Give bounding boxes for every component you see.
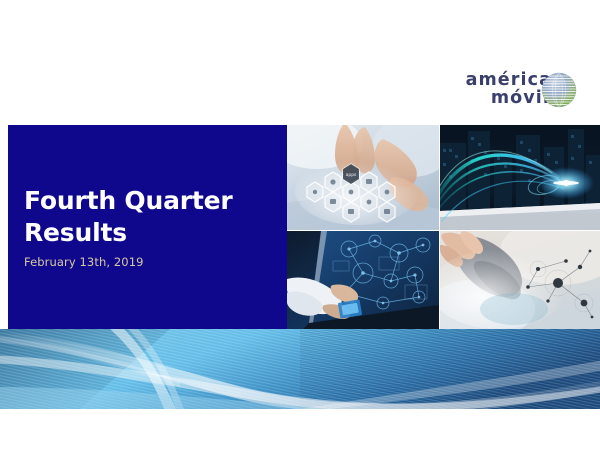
title-panel: Fourth Quarter Results February 13th, 20… (8, 125, 287, 329)
blue-wave-graphic (0, 329, 600, 409)
page-title: Fourth Quarter Results (24, 185, 274, 248)
striped-sphere-icon (541, 72, 577, 108)
footer-whitespace (0, 409, 600, 464)
hands-hexagon-interface-photo: apps (287, 125, 439, 230)
presentation-slide: américa móvil (0, 0, 600, 464)
title-block: Fourth Quarter Results February 13th, 20… (24, 185, 274, 269)
logo-wordmark: américa móvil (440, 72, 552, 108)
city-light-streaks-photo (440, 125, 600, 230)
hand-network-dots-photo (440, 231, 600, 329)
photo-grid: apps (287, 125, 600, 329)
logo-line-movil: móvil (440, 90, 552, 108)
america-movil-logo: américa móvil (440, 72, 585, 117)
svg-text:apps: apps (346, 173, 357, 178)
slide-date: February 13th, 2019 (24, 255, 274, 269)
touchscreen-network-photo (287, 231, 439, 329)
